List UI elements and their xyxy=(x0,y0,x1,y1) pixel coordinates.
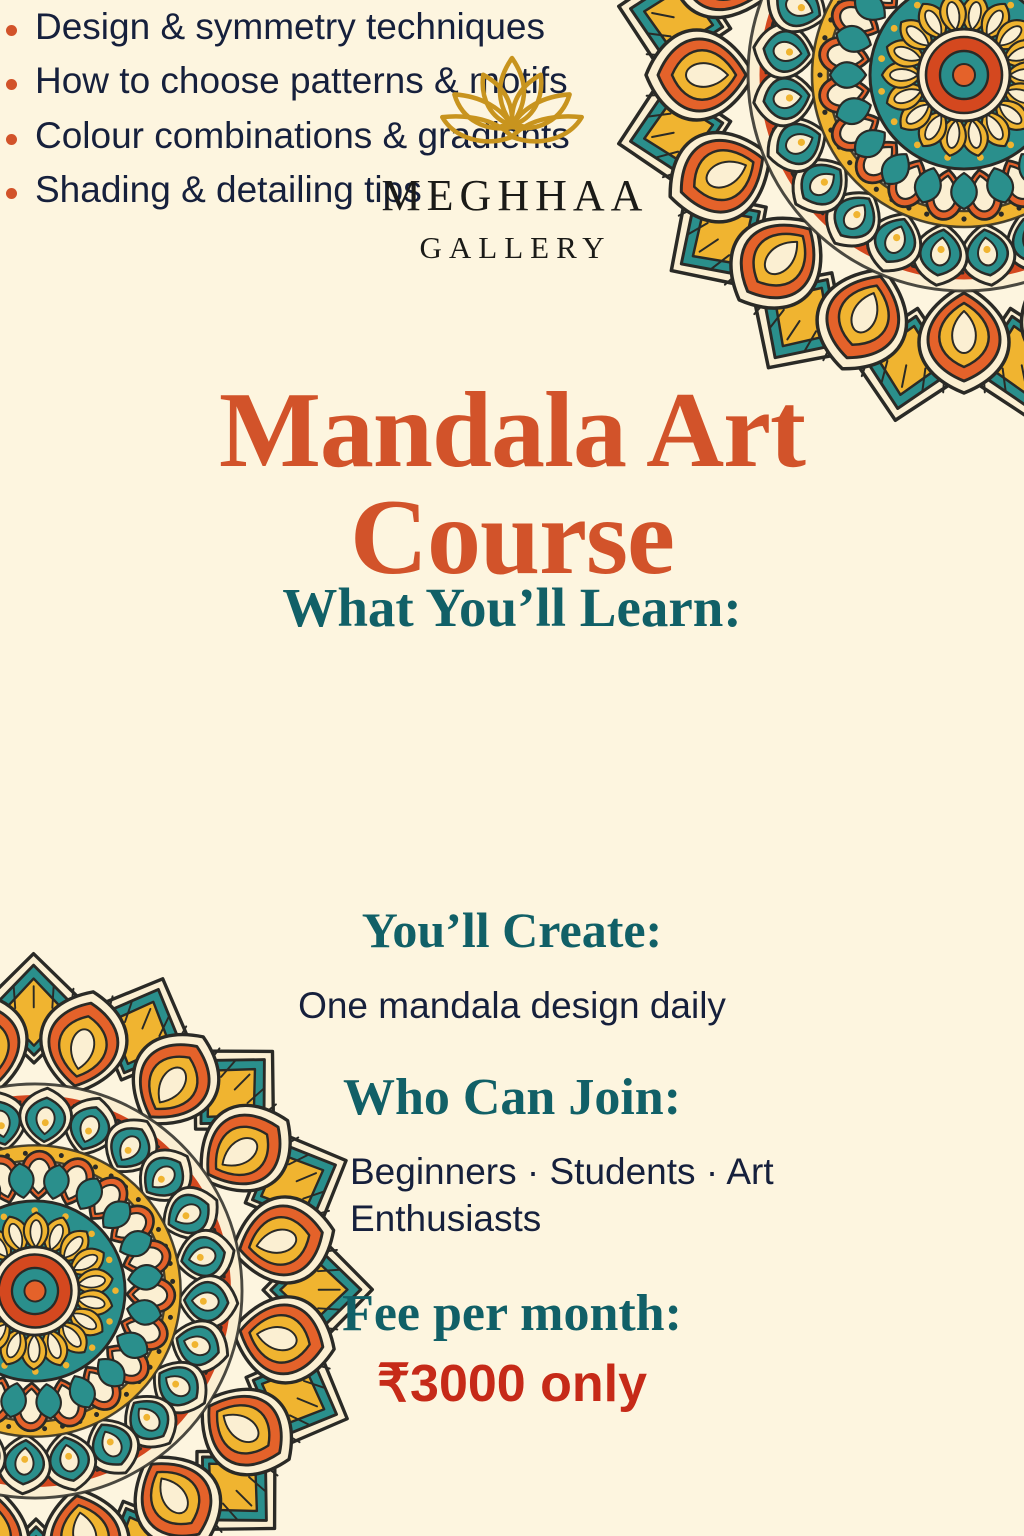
brand-logo-block: MEGHHAA GALLERY xyxy=(0,52,1024,263)
section-text-join: Beginners · Students · Art Enthusiasts xyxy=(350,1148,850,1243)
brand-sub-name: GALLERY xyxy=(0,232,1024,263)
section-heading-learn: What You’ll Learn: xyxy=(0,580,1024,635)
page-title-line-1: Mandala Art xyxy=(0,378,1024,485)
section-heading-fee: Fee per month: xyxy=(0,1288,1024,1340)
section-heading-create: You’ll Create: xyxy=(0,905,1024,955)
page-title: Mandala Art Course xyxy=(0,378,1024,592)
section-text-create: One mandala design daily xyxy=(0,984,1024,1028)
mandala-ornament-bottom-left xyxy=(0,946,380,1536)
fee-amount: ₹3000 only xyxy=(0,1358,1024,1410)
brand-name: MEGHHAA xyxy=(0,174,1024,218)
lotus-icon xyxy=(436,52,588,152)
section-heading-join: Who Can Join: xyxy=(0,1072,1024,1124)
list-item: Design & symmetry techniques xyxy=(0,0,700,54)
poster-canvas: MEGHHAA GALLERY Mandala Art Course What … xyxy=(0,0,1024,1536)
